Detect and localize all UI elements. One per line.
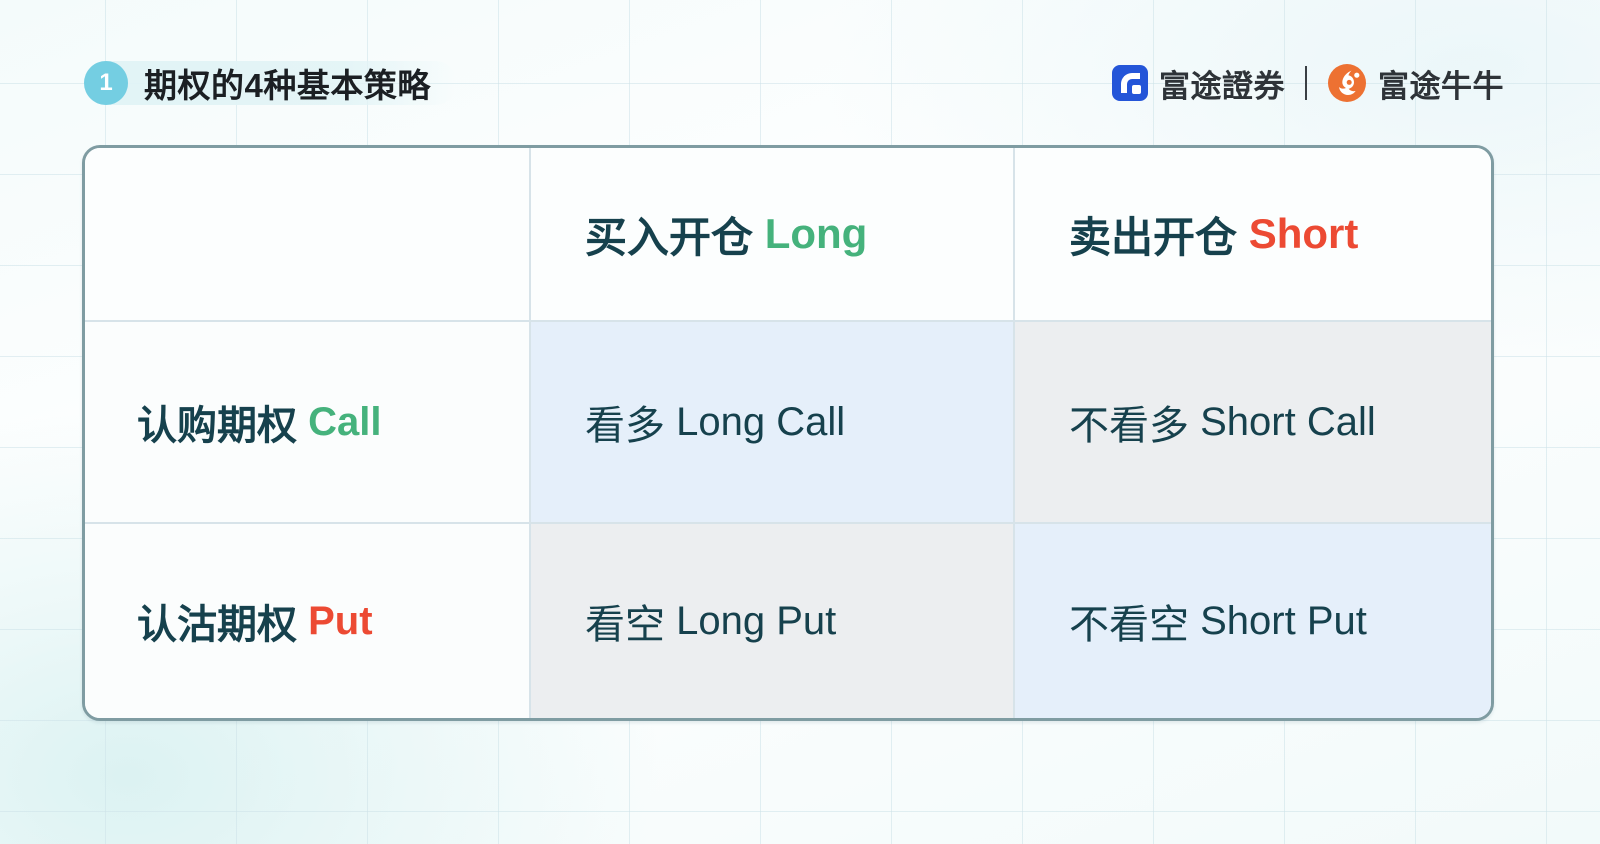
brand-lockup: 富途證券 富途牛牛	[1112, 58, 1504, 108]
column-header-long-cn: 买入开仓	[585, 204, 753, 265]
section-number-badge: 1	[84, 61, 128, 105]
row-header-call-en: Call	[308, 400, 381, 445]
futu-bull-circle-icon	[1327, 63, 1367, 103]
row-header-call: 认购期权 Call	[85, 320, 529, 522]
column-header-short: 卖出开仓 Short	[1013, 148, 1494, 320]
cell-short-call: 不看多 Short Call	[1013, 320, 1494, 522]
cell-long-put-cn: 看空	[585, 592, 665, 650]
cell-short-call-cn: 不看多	[1069, 393, 1189, 451]
cell-short-put-cn: 不看空	[1069, 592, 1189, 650]
cell-short-call-en: Short Call	[1200, 400, 1376, 445]
brand-app: 富途牛牛	[1327, 61, 1504, 106]
strategy-matrix-table: 买入开仓 Long 卖出开仓 Short 认购期权 Call 看多 Long C…	[82, 145, 1494, 721]
matrix-corner-cell	[85, 148, 529, 320]
brand-app-label: 富途牛牛	[1378, 61, 1504, 106]
row-header-put: 认沽期权 Put	[85, 522, 529, 718]
cell-long-put-en: Long Put	[676, 599, 836, 644]
cell-short-put: 不看空 Short Put	[1013, 522, 1494, 718]
slide-title-group: 1 期权的4种基本策略	[84, 61, 457, 105]
cell-long-put: 看空 Long Put	[529, 522, 1013, 718]
brand-separator	[1305, 66, 1307, 100]
column-header-long-en: Long	[765, 210, 868, 258]
slide-background: 1 期权的4种基本策略 富途證券 富途牛牛	[0, 0, 1600, 844]
row-header-put-en: Put	[308, 599, 372, 644]
cell-long-call: 看多 Long Call	[529, 320, 1013, 522]
futu-square-logo-icon	[1112, 65, 1148, 101]
cell-long-call-en: Long Call	[676, 400, 845, 445]
column-header-long: 买入开仓 Long	[529, 148, 1013, 320]
brand-securities: 富途證券	[1112, 61, 1285, 106]
row-header-put-cn: 认沽期权	[137, 592, 297, 650]
brand-securities-label: 富途證券	[1159, 61, 1285, 106]
column-header-short-cn: 卖出开仓	[1069, 204, 1237, 265]
column-header-short-en: Short	[1249, 210, 1359, 258]
slide-header: 1 期权的4种基本策略 富途證券 富途牛牛	[0, 0, 1600, 144]
cell-short-put-en: Short Put	[1200, 599, 1367, 644]
row-header-call-cn: 认购期权	[137, 393, 297, 451]
page-title: 期权的4种基本策略	[144, 59, 431, 107]
cell-long-call-cn: 看多	[585, 393, 665, 451]
